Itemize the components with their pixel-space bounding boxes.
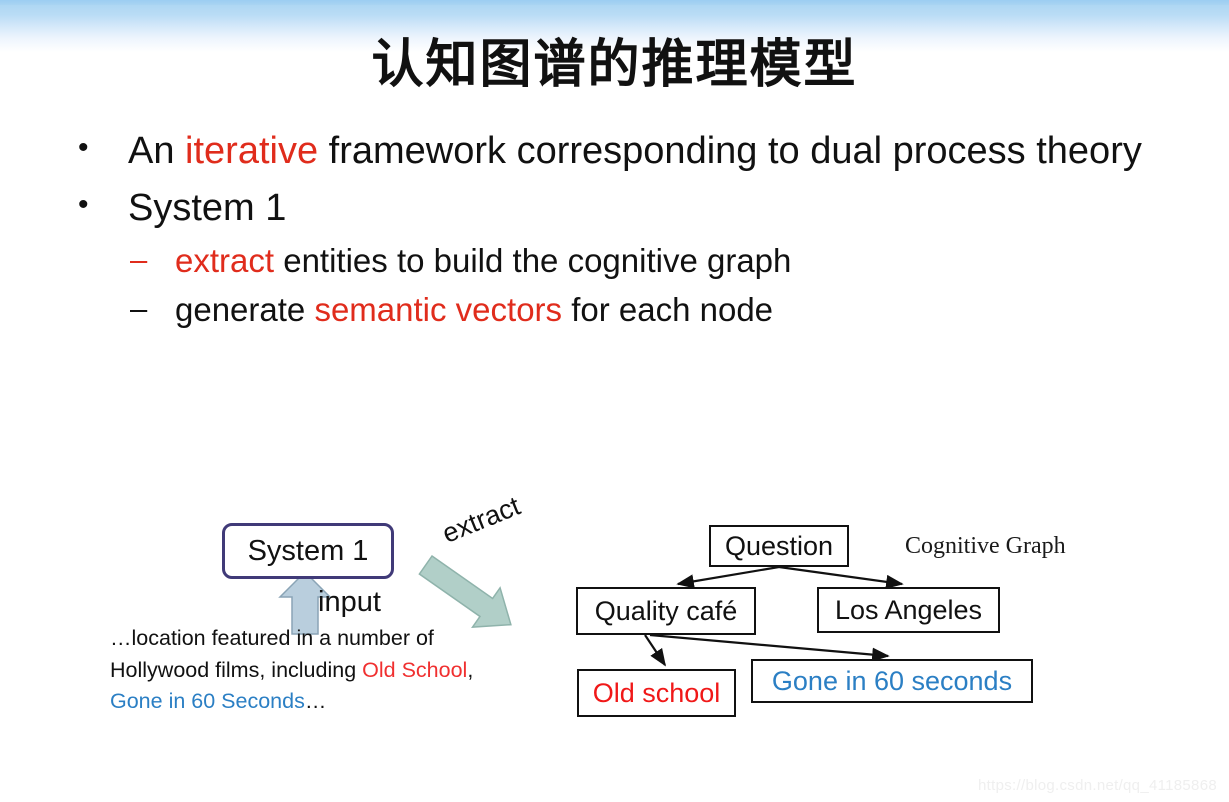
graph-node-old-school[interactable]: Old school: [577, 669, 736, 717]
bullet-item-4: – generate semantic vectors for each nod…: [130, 286, 1188, 335]
snippet-line-3-post: …: [305, 689, 327, 713]
bullet-1-post: framework corresponding to dual process …: [318, 130, 1142, 172]
input-label: input: [318, 586, 381, 619]
bullet-1-pre: An: [128, 130, 185, 172]
graph-edge-question-to-quality: [678, 567, 779, 584]
bullet-text-1: An iterative framework corresponding to …: [128, 124, 1142, 179]
snippet-entity-old-school: Old School: [362, 658, 467, 682]
snippet-line-1: …location featured in a number of: [110, 626, 434, 650]
figure-region: System 1 input extract …location feature…: [0, 0, 1229, 802]
snippet-entity-gone-in-60-seconds: Gone in 60 Seconds: [110, 689, 305, 713]
bullet-4-highlight: semantic vectors: [314, 291, 562, 328]
sub-bullet-marker: –: [130, 237, 175, 283]
slide-header-band-edge: [0, 0, 1229, 5]
graph-edge-question-to-losangeles: [779, 567, 902, 584]
bullet-marker: •: [78, 124, 128, 173]
extract-label: extract: [438, 491, 525, 550]
graph-node-gone-in-60-seconds[interactable]: Gone in 60 seconds: [751, 659, 1033, 703]
snippet-line-2-post: ,: [467, 658, 473, 682]
bullet-item-3: – extract entities to build the cognitiv…: [130, 237, 1188, 286]
graph-edge-quality-to-gone: [650, 635, 888, 656]
system1-box[interactable]: System 1: [222, 523, 394, 579]
bullet-3-highlight: extract: [175, 242, 274, 279]
watermark: https://blog.csdn.net/qq_41185868: [978, 777, 1217, 794]
bullet-list: • An iterative framework corresponding t…: [78, 124, 1188, 335]
source-text-snippet: …location featured in a number of Hollyw…: [110, 623, 490, 718]
snippet-line-2-pre: Hollywood films, including: [110, 658, 362, 682]
graph-node-question[interactable]: Question: [709, 525, 849, 567]
page-title: 认知图谱的推理模型: [0, 36, 1229, 96]
bullet-1-highlight: iterative: [185, 130, 318, 172]
graph-edge-quality-to-oldschool: [645, 635, 665, 665]
bullet-item-1: • An iterative framework corresponding t…: [78, 124, 1188, 179]
bullet-item-2: • System 1: [78, 181, 1188, 236]
graph-node-los-angeles[interactable]: Los Angeles: [817, 587, 1000, 633]
bullet-4-post: for each node: [562, 291, 773, 328]
bullet-text-3: extract entities to build the cognitive …: [175, 237, 791, 286]
bullet-marker: •: [78, 181, 128, 230]
bullet-3-post: entities to build the cognitive graph: [274, 242, 791, 279]
bullet-text-4: generate semantic vectors for each node: [175, 286, 773, 335]
bullet-text-2: System 1: [128, 181, 286, 236]
graph-node-quality-cafe[interactable]: Quality café: [576, 587, 756, 635]
bullet-4-pre: generate: [175, 291, 314, 328]
cognitive-graph-caption: Cognitive Graph: [905, 533, 1066, 560]
sub-bullet-marker: –: [130, 286, 175, 332]
